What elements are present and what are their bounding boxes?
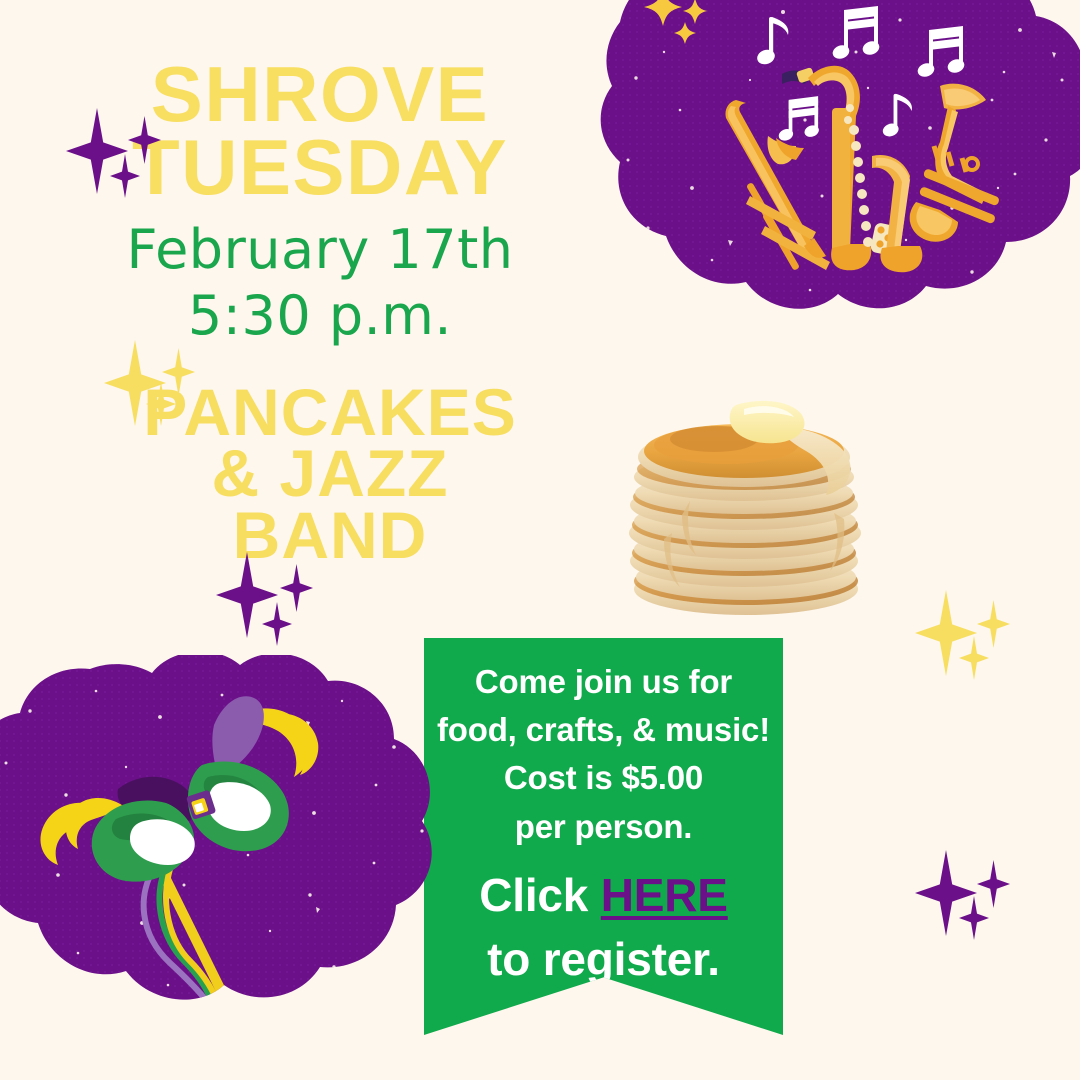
banner-register-line: to register. [430, 932, 777, 987]
sparkle-icon-large [915, 590, 977, 676]
sparkle-cluster-top-left [58, 98, 188, 210]
event-name-block: PANCAKES & JAZZ BAND [0, 382, 660, 566]
sparkle-icon-medium [977, 860, 1010, 908]
sparkle-icon-small [959, 896, 989, 940]
sparkle-cluster-right-lower [905, 838, 1035, 950]
register-here-link[interactable]: HERE [601, 869, 728, 921]
sparkle-icon-small [110, 154, 140, 198]
sparkle-cluster-mid-left [100, 338, 220, 438]
sparkle-cluster-center-left [212, 548, 332, 658]
trombone-icon [725, 100, 830, 271]
sparkle-icon-medium [977, 600, 1010, 648]
banner-line-2: food, crafts, & music! [430, 706, 777, 754]
mardi-gras-mask-icon [40, 696, 318, 1033]
sparkle-icon-small [262, 602, 292, 646]
sparkle-icon-large [66, 108, 128, 194]
music-note-icon-group [755, 6, 966, 143]
trumpet-icon-right [910, 84, 1001, 242]
banner-line-3: Cost is $5.00 [430, 754, 777, 802]
banner-line-4: per person. [430, 803, 777, 851]
registration-banner: Come join us for food, crafts, & music! … [424, 638, 783, 1035]
sparkle-icon-small [959, 636, 989, 680]
banner-click-prefix: Click [479, 869, 601, 921]
event-time: 5:30 p.m. [0, 283, 640, 349]
sparkle-icon-medium [162, 348, 195, 396]
sparkle-icon-large [915, 850, 977, 936]
sparkle-icon-small [146, 382, 176, 426]
saxophone-icon [782, 66, 898, 271]
sparkle-icon-medium [128, 116, 161, 164]
banner-click-line: Click HERE [430, 867, 777, 925]
sparkle-icon-large [104, 340, 166, 426]
trumpet-icon-center [872, 155, 922, 272]
pancake-stack-image [594, 383, 894, 623]
flyer-canvas: SHROVE TUESDAY February 17th 5:30 p.m. P… [0, 0, 1080, 1080]
banner-line-1: Come join us for [430, 658, 777, 706]
purple-cloud-blob-instruments [600, 0, 1080, 380]
sparkle-cluster-right-upper [905, 578, 1035, 690]
event-name-line-2: & JAZZ [0, 443, 660, 504]
sparkle-icon-inside-blob [644, 0, 707, 44]
purple-cloud-blob-mask [0, 655, 440, 1080]
sparkle-icon-medium [280, 564, 313, 612]
event-date: February 17th [0, 217, 640, 283]
event-name-line-1: PANCAKES [0, 382, 660, 443]
